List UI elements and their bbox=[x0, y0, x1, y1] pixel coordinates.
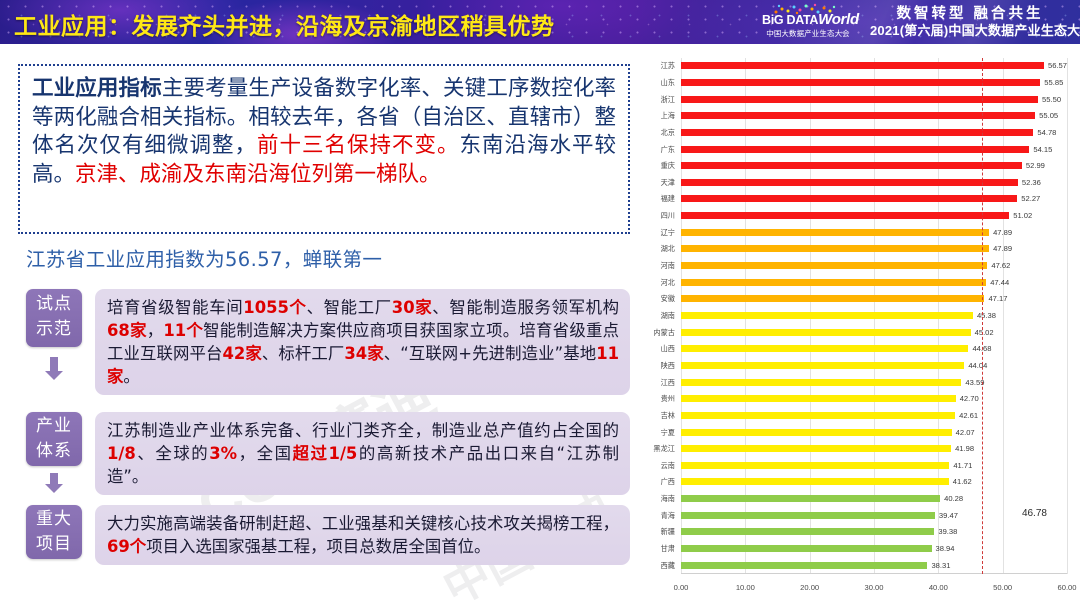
chart-bar[interactable] bbox=[681, 478, 949, 485]
text-part-9: 42家 bbox=[222, 344, 261, 363]
conference-name: 2021(第六届)中国大数据产业生态大会 bbox=[870, 23, 1070, 39]
chart-bar-value: 41.62 bbox=[953, 477, 972, 486]
chart-bar[interactable] bbox=[681, 212, 1009, 219]
logo-world-text: World bbox=[818, 11, 859, 28]
chart-bar[interactable] bbox=[681, 146, 1029, 153]
x-tick-label: 20.00 bbox=[800, 583, 819, 592]
chart-bar[interactable] bbox=[681, 245, 989, 252]
chart-bar-value: 52.99 bbox=[1026, 161, 1045, 170]
chart-bar-value: 42.61 bbox=[959, 411, 978, 420]
text-part-3: 30家 bbox=[392, 298, 433, 317]
x-tick-label: 40.00 bbox=[929, 583, 948, 592]
chart-bar-value: 45.38 bbox=[977, 311, 996, 320]
chart-bar-value: 55.05 bbox=[1039, 111, 1058, 120]
text-part-4: 、智能制造服务领军机构 bbox=[432, 298, 619, 317]
province-label: 广西 bbox=[641, 477, 675, 487]
chart-gridline bbox=[1067, 58, 1068, 574]
province-label: 吉林 bbox=[641, 411, 675, 421]
provincial-index-chart: 56.5755.8555.5055.0554.7854.1552.9952.36… bbox=[641, 52, 1071, 600]
flow-arrow-1-head bbox=[45, 371, 63, 380]
province-label: 宁夏 bbox=[641, 428, 675, 438]
chart-bar-row[interactable]: 47.89 bbox=[681, 244, 1067, 253]
chart-bar[interactable] bbox=[681, 179, 1018, 186]
text-part-2: 项目入选国家强基工程，项目总数居全国首位。 bbox=[146, 537, 490, 556]
x-tick-label: 10.00 bbox=[736, 583, 755, 592]
conference-slogan: 数智转型 融合共生 bbox=[870, 6, 1070, 23]
province-label: 贵州 bbox=[641, 394, 675, 404]
tag-pilot-demonstration: 试点 示范 bbox=[26, 289, 82, 347]
logo-wordmark: BiG DATAWorld bbox=[762, 13, 854, 27]
logo-bigdata-text: BiG DATA bbox=[762, 13, 818, 27]
chart-bar-row[interactable]: 42.61 bbox=[681, 411, 1067, 420]
chart-bar[interactable] bbox=[681, 562, 927, 569]
text-part-0: 江苏制造业产业体系完备、行业门类齐全，制造业总产值约占全国的 bbox=[107, 421, 619, 440]
chart-bar-value: 54.15 bbox=[1033, 145, 1052, 154]
bubble-pilot-demonstration: 培育省级智能车间1055个、智能工厂30家、智能制造服务领军机构68家，11个智… bbox=[95, 289, 630, 395]
chart-bar-row[interactable]: 47.62 bbox=[681, 261, 1067, 270]
chart-bar-row[interactable]: 55.05 bbox=[681, 111, 1067, 120]
chart-bar-value: 41.71 bbox=[953, 461, 972, 470]
chart-bar-row[interactable]: 41.71 bbox=[681, 461, 1067, 470]
chart-bar[interactable] bbox=[681, 379, 961, 386]
tag-line-1: 试点 bbox=[26, 292, 82, 317]
chart-x-axis bbox=[681, 573, 1067, 574]
province-label: 天津 bbox=[641, 178, 675, 188]
province-label: 新疆 bbox=[641, 527, 675, 537]
content-row-industry-system: 产业 体系 江苏制造业产业体系完备、行业门类齐全，制造业总产值约占全国的1/8、… bbox=[26, 412, 630, 495]
chart-bar[interactable] bbox=[681, 445, 951, 452]
chart-bar-value: 41.98 bbox=[955, 444, 974, 453]
chart-bar-row[interactable]: 56.57 bbox=[681, 61, 1067, 70]
chart-bar[interactable] bbox=[681, 312, 973, 319]
chart-bar[interactable] bbox=[681, 162, 1022, 169]
province-label: 安徽 bbox=[641, 294, 675, 304]
text-part-5: 超过1/5 bbox=[293, 444, 358, 463]
flow-arrow-1-stem bbox=[50, 357, 58, 371]
chart-bar-value: 38.94 bbox=[936, 544, 955, 553]
chart-bar[interactable] bbox=[681, 79, 1040, 86]
province-label: 江西 bbox=[641, 378, 675, 388]
chart-bar-row[interactable]: 45.02 bbox=[681, 328, 1067, 337]
chart-bar-row[interactable]: 54.78 bbox=[681, 128, 1067, 137]
province-label: 辽宁 bbox=[641, 228, 675, 238]
chart-bar[interactable] bbox=[681, 62, 1044, 69]
chart-bar[interactable] bbox=[681, 495, 940, 502]
province-label: 山东 bbox=[641, 78, 675, 88]
text-part-2: 、全球的 bbox=[136, 444, 209, 463]
chart-bar-row[interactable]: 38.94 bbox=[681, 544, 1067, 553]
summary-note-box: 工业应用指标主要考量生产设备数字化率、关键工序数控化率等两化融合相关指标。相较去… bbox=[18, 64, 630, 234]
text-part-5: 68家 bbox=[107, 321, 147, 340]
chart-bar[interactable] bbox=[681, 96, 1038, 103]
x-tick-label: 60.00 bbox=[1057, 583, 1076, 592]
province-label: 河南 bbox=[641, 261, 675, 271]
chart-bar-row[interactable]: 47.44 bbox=[681, 278, 1067, 287]
province-label: 海南 bbox=[641, 494, 675, 504]
province-label: 江苏 bbox=[641, 61, 675, 71]
bigdata-world-logo: BiG DATAWorld 中国大数据产业生态大会 bbox=[762, 3, 854, 41]
bubble-major-projects: 大力实施高端装备研制赶超、工业强基和关键核心技术攻关揭榜工程，69个项目入选国家… bbox=[95, 505, 630, 565]
text-part-2: 、智能工厂 bbox=[307, 298, 392, 317]
chart-bar[interactable] bbox=[681, 429, 952, 436]
tag-line-1: 重大 bbox=[26, 507, 82, 532]
chart-bar-value: 54.78 bbox=[1037, 128, 1056, 137]
chart-bar-value: 47.89 bbox=[993, 244, 1012, 253]
chart-bar-row[interactable]: 45.38 bbox=[681, 311, 1067, 320]
note-segment-4-highlight: 京津、成渝及东南沿海位列第一梯队。 bbox=[75, 162, 441, 187]
chart-bar-value: 52.27 bbox=[1021, 194, 1040, 203]
chart-bar-value: 39.38 bbox=[938, 527, 957, 536]
chart-bar[interactable] bbox=[681, 512, 935, 519]
chart-bar-value: 47.62 bbox=[991, 261, 1010, 270]
province-label: 四川 bbox=[641, 211, 675, 221]
province-label: 甘肃 bbox=[641, 544, 675, 554]
chart-bar-value: 47.17 bbox=[988, 294, 1007, 303]
chart-bar-value: 47.89 bbox=[993, 228, 1012, 237]
province-label: 北京 bbox=[641, 128, 675, 138]
chart-bar-value: 38.31 bbox=[931, 561, 950, 570]
province-label: 重庆 bbox=[641, 161, 675, 171]
province-label: 内蒙古 bbox=[641, 328, 675, 338]
chart-bar[interactable] bbox=[681, 362, 964, 369]
chart-bar[interactable] bbox=[681, 462, 949, 469]
tag-line-2: 体系 bbox=[26, 439, 82, 464]
province-label: 西藏 bbox=[641, 561, 675, 571]
tag-major-projects: 重大 项目 bbox=[26, 505, 82, 559]
text-part-11: 34家 bbox=[344, 344, 383, 363]
chart-bar-row[interactable]: 39.47 bbox=[681, 511, 1067, 520]
summary-note-text: 工业应用指标主要考量生产设备数字化率、关键工序数控化率等两化融合相关指标。相较去… bbox=[32, 75, 616, 189]
chart-bar[interactable] bbox=[681, 129, 1033, 136]
text-part-6: ， bbox=[147, 321, 164, 340]
chart-bar[interactable] bbox=[681, 329, 971, 336]
text-part-7: 11个 bbox=[163, 321, 203, 340]
chart-bar-row[interactable]: 55.50 bbox=[681, 95, 1067, 104]
tag-line-2: 项目 bbox=[26, 532, 82, 557]
text-part-14: 。 bbox=[123, 367, 139, 386]
chart-bar-row[interactable]: 42.70 bbox=[681, 394, 1067, 403]
chart-bar[interactable] bbox=[681, 295, 984, 302]
note-segment-2-highlight: 前十三名保持不变。 bbox=[257, 133, 459, 158]
chart-bar-row[interactable]: 38.31 bbox=[681, 561, 1067, 570]
chart-bar-value: 55.85 bbox=[1044, 78, 1063, 87]
text-part-1: 1055个 bbox=[243, 298, 306, 317]
province-label: 山西 bbox=[641, 344, 675, 354]
chart-bar-row[interactable]: 51.02 bbox=[681, 211, 1067, 220]
chart-bar-row[interactable]: 44.04 bbox=[681, 361, 1067, 370]
flow-arrow-2-head bbox=[45, 484, 63, 493]
section-subtitle: 江苏省工业应用指数为56.57，蝉联第一 bbox=[26, 243, 626, 272]
text-part-4: ，全国 bbox=[237, 444, 293, 463]
chart-bar-row[interactable]: 47.89 bbox=[681, 228, 1067, 237]
province-label: 湖南 bbox=[641, 311, 675, 321]
province-label: 湖北 bbox=[641, 244, 675, 254]
chart-bar[interactable] bbox=[681, 229, 989, 236]
province-label: 青海 bbox=[641, 511, 675, 521]
chart-bar-row[interactable]: 43.59 bbox=[681, 378, 1067, 387]
chart-bar-value: 45.02 bbox=[975, 328, 994, 337]
content-row-pilot: 试点 示范 培育省级智能车间1055个、智能工厂30家、智能制造服务领军机构68… bbox=[26, 289, 630, 395]
text-part-12: 、“互联网+先进制造业”基地 bbox=[384, 344, 596, 363]
chart-bar-row[interactable]: 42.07 bbox=[681, 428, 1067, 437]
chart-bar-row[interactable]: 41.98 bbox=[681, 444, 1067, 453]
province-label: 云南 bbox=[641, 461, 675, 471]
logo-subtitle: 中国大数据产业生态大会 bbox=[762, 28, 854, 39]
chart-reference-line-label: 46.78 bbox=[1022, 508, 1047, 519]
chart-bar-row[interactable]: 47.17 bbox=[681, 294, 1067, 303]
chart-bar[interactable] bbox=[681, 545, 932, 552]
chart-bar-row[interactable]: 54.15 bbox=[681, 145, 1067, 154]
chart-bar-value: 40.28 bbox=[944, 494, 963, 503]
text-part-0: 培育省级智能车间 bbox=[107, 298, 243, 317]
chart-bar[interactable] bbox=[681, 528, 934, 535]
x-tick-label: 30.00 bbox=[864, 583, 883, 592]
chart-bar-value: 47.44 bbox=[990, 278, 1009, 287]
province-label: 浙江 bbox=[641, 95, 675, 105]
chart-plot-area: 56.5755.8555.5055.0554.7854.1552.9952.36… bbox=[681, 58, 1067, 574]
province-label: 河北 bbox=[641, 278, 675, 288]
text-part-1: 69个 bbox=[107, 537, 146, 556]
tag-line-2: 示范 bbox=[26, 317, 82, 342]
chart-bar[interactable] bbox=[681, 345, 968, 352]
province-label: 陕西 bbox=[641, 361, 675, 371]
page-title: 工业应用：发展齐头并进，沿海及京渝地区稍具优势 bbox=[14, 7, 555, 41]
chart-bar-row[interactable]: 55.85 bbox=[681, 78, 1067, 87]
chart-bar-value: 39.47 bbox=[939, 511, 958, 520]
bubble-industry-system: 江苏制造业产业体系完备、行业门类齐全，制造业总产值约占全国的1/8、全球的3%，… bbox=[95, 412, 630, 495]
text-part-10: 、标杆工厂 bbox=[262, 344, 344, 363]
chart-bar-value: 51.02 bbox=[1013, 211, 1032, 220]
chart-bar[interactable] bbox=[681, 412, 955, 419]
chart-bar-value: 52.36 bbox=[1022, 178, 1041, 187]
content-row-major-projects: 重大 项目 大力实施高端装备研制赶超、工业强基和关键核心技术攻关揭榜工程，69个… bbox=[26, 505, 630, 565]
chart-bar-row[interactable]: 52.36 bbox=[681, 178, 1067, 187]
province-label: 广东 bbox=[641, 145, 675, 155]
province-label: 上海 bbox=[641, 111, 675, 121]
text-part-1: 1/8 bbox=[107, 444, 136, 463]
tag-industry-system: 产业 体系 bbox=[26, 412, 82, 466]
chart-bar-row[interactable]: 52.99 bbox=[681, 161, 1067, 170]
chart-bar-value: 56.57 bbox=[1048, 61, 1067, 70]
chart-bar-value: 55.50 bbox=[1042, 95, 1061, 104]
flow-arrow-2-stem bbox=[50, 473, 58, 484]
page-header: 工业应用：发展齐头并进，沿海及京渝地区稍具优势 BiG DATAWorld 中国… bbox=[0, 0, 1080, 44]
chart-bar[interactable] bbox=[681, 395, 956, 402]
tag-line-1: 产业 bbox=[26, 414, 82, 439]
chart-bar-row[interactable]: 52.27 bbox=[681, 194, 1067, 203]
province-label: 福建 bbox=[641, 194, 675, 204]
chart-bar[interactable] bbox=[681, 262, 987, 269]
province-label: 黑龙江 bbox=[641, 444, 675, 454]
text-part-3: 3% bbox=[209, 444, 237, 463]
note-lead-bold: 工业应用指标 bbox=[32, 76, 162, 101]
chart-reference-line bbox=[982, 58, 983, 574]
chart-bar-row[interactable]: 44.68 bbox=[681, 344, 1067, 353]
x-tick-label: 0.00 bbox=[674, 583, 689, 592]
chart-bar-value: 42.07 bbox=[956, 428, 975, 437]
chart-bar-row[interactable]: 41.62 bbox=[681, 477, 1067, 486]
chart-bar-value: 42.70 bbox=[960, 394, 979, 403]
chart-bar-row[interactable]: 40.28 bbox=[681, 494, 1067, 503]
chart-bar-row[interactable]: 39.38 bbox=[681, 527, 1067, 536]
text-part-0: 大力实施高端装备研制赶超、工业强基和关键核心技术攻关揭榜工程， bbox=[107, 514, 619, 533]
chart-bar[interactable] bbox=[681, 279, 986, 286]
chart-bar[interactable] bbox=[681, 195, 1017, 202]
chart-bar-value: 44.04 bbox=[968, 361, 987, 370]
x-tick-label: 50.00 bbox=[993, 583, 1012, 592]
conference-branding: 数智转型 融合共生 2021(第六届)中国大数据产业生态大会 bbox=[870, 6, 1070, 39]
